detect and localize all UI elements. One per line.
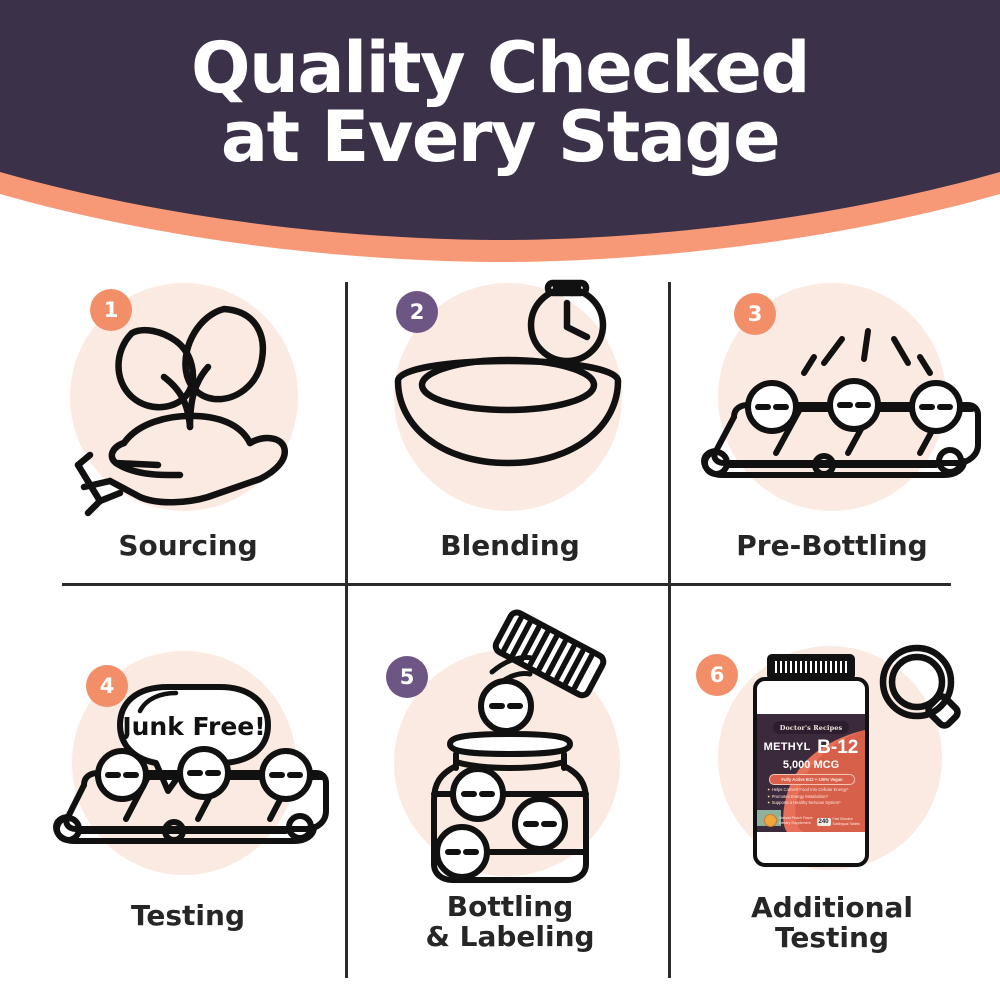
count-value: 240 [817,818,831,826]
step-5-number-badge: 5 [386,656,428,698]
supplement-bottle-magnifier-icon: Doctor's Recipes METHYL B-12 5,000 MCG F… [749,654,873,869]
speech-bubble-text: Junk Free! [120,712,265,741]
step-3-number: 3 [748,302,763,326]
step-2-number: 2 [410,300,425,324]
step-card-1: 1 Sourcing [28,275,348,561]
product-name-main: B-12 [817,737,858,758]
bottle-cap-ribs [775,661,847,673]
conveyor-belt-sparkle-icon [672,275,992,525]
step-5-caption: Bottling & Labeling [350,892,670,952]
step-4-caption-line-1: Testing [131,899,245,932]
step-card-6: Doctor's Recipes METHYL B-12 5,000 MCG F… [672,640,992,953]
step-2-caption-line-1: Blending [440,529,579,562]
step-6-number: 6 [710,663,725,687]
product-name-prefix: METHYL [764,741,811,753]
step-4-number: 4 [100,674,115,698]
brand-badge: Doctor's Recipes [773,721,849,734]
claim-badge: Fully Active B12 + 100% Vegan [769,774,855,785]
bullet-marker: ✦ [767,794,771,799]
step-3-artwork: 3 [672,275,992,525]
step-5-artwork: 5 [350,608,670,890]
step-6-number-badge: 6 [696,654,738,696]
benefit-text-1: Helps Convert Food Into Cellular Energy* [772,787,849,792]
step-3-number-badge: 3 [734,293,776,335]
flavor-footer: Natural Peach Flavor Dietary Supplement [764,814,813,827]
step-6-caption-line-1: Additional [751,891,913,924]
flavor-line-1: Natural Peach Flavor [779,816,813,821]
page-title-line-2: at Every Stage [0,103,1000,172]
step-5-caption-line-2: & Labeling [350,922,670,952]
benefit-list: ✦ Helps Convert Food Into Cellular Energ… [767,787,861,807]
count-sub-line-2: Sublingual Tablets [833,822,860,826]
step-1-number: 1 [104,298,119,322]
conveyor-belt-speech-bubble-icon: Junk Free! [28,645,348,895]
step-4-caption: Testing [28,901,348,931]
step-2-artwork: 2 [350,275,670,525]
benefit-text-3: Supports a Healthy Nervous System* [772,800,841,805]
claim-badge-text: Fully Active B12 + 100% Vegan [781,777,842,782]
step-6-artwork: Doctor's Recipes METHYL B-12 5,000 MCG F… [672,640,992,885]
step-card-2: 2 Blending [350,275,670,561]
step-4-number-badge: 4 [86,665,128,707]
step-2-caption: Blending [350,531,670,561]
bottle-label: Doctor's Recipes METHYL B-12 5,000 MCG F… [757,714,865,832]
step-5-number: 5 [400,665,415,689]
step-3-caption: Pre-Bottling [672,531,992,561]
infographic-root: Quality Checked at Every Stage [0,0,1000,1000]
product-name: METHYL B-12 [757,738,865,757]
flavor-line-2: Dietary Supplement [779,821,813,826]
step-card-4: Junk Free! 4 Testing [28,645,348,931]
step-2-number-badge: 2 [396,291,438,333]
step-1-caption-line-1: Sourcing [118,529,257,562]
step-6-caption-line-2: Testing [672,923,992,953]
step-1-caption: Sourcing [28,531,348,561]
bullet-marker: ✦ [767,787,771,792]
page-title: Quality Checked at Every Stage [0,34,1000,173]
bullet-marker: ✦ [767,800,771,805]
step-6-caption: Additional Testing [672,893,992,953]
product-dosage: 5,000 MCG [757,759,865,771]
peach-fruit-icon [764,814,777,827]
header-banner: Quality Checked at Every Stage [0,0,1000,262]
count-badge: 240 Fast Dissolve Sublingual Tablets [817,817,860,826]
benefit-text-2: Promotes Energy Metabolism* [772,794,829,799]
step-1-artwork: 1 [28,275,348,525]
step-card-5: 5 Bottling & Labeling [350,608,670,952]
step-card-3: 3 Pre-Bottling [672,275,992,561]
brand-name: Doctor's Recipes [780,724,843,732]
step-1-number-badge: 1 [90,289,132,331]
jar-filling-cap-icon [350,608,670,898]
benefit-item: ✦ Supports a Healthy Nervous System* [767,800,861,807]
step-3-caption-line-1: Pre-Bottling [736,529,927,562]
hand-holding-sprout-icon [28,275,348,525]
grid-divider-horizontal [62,583,951,586]
step-4-artwork: Junk Free! 4 [28,645,348,895]
